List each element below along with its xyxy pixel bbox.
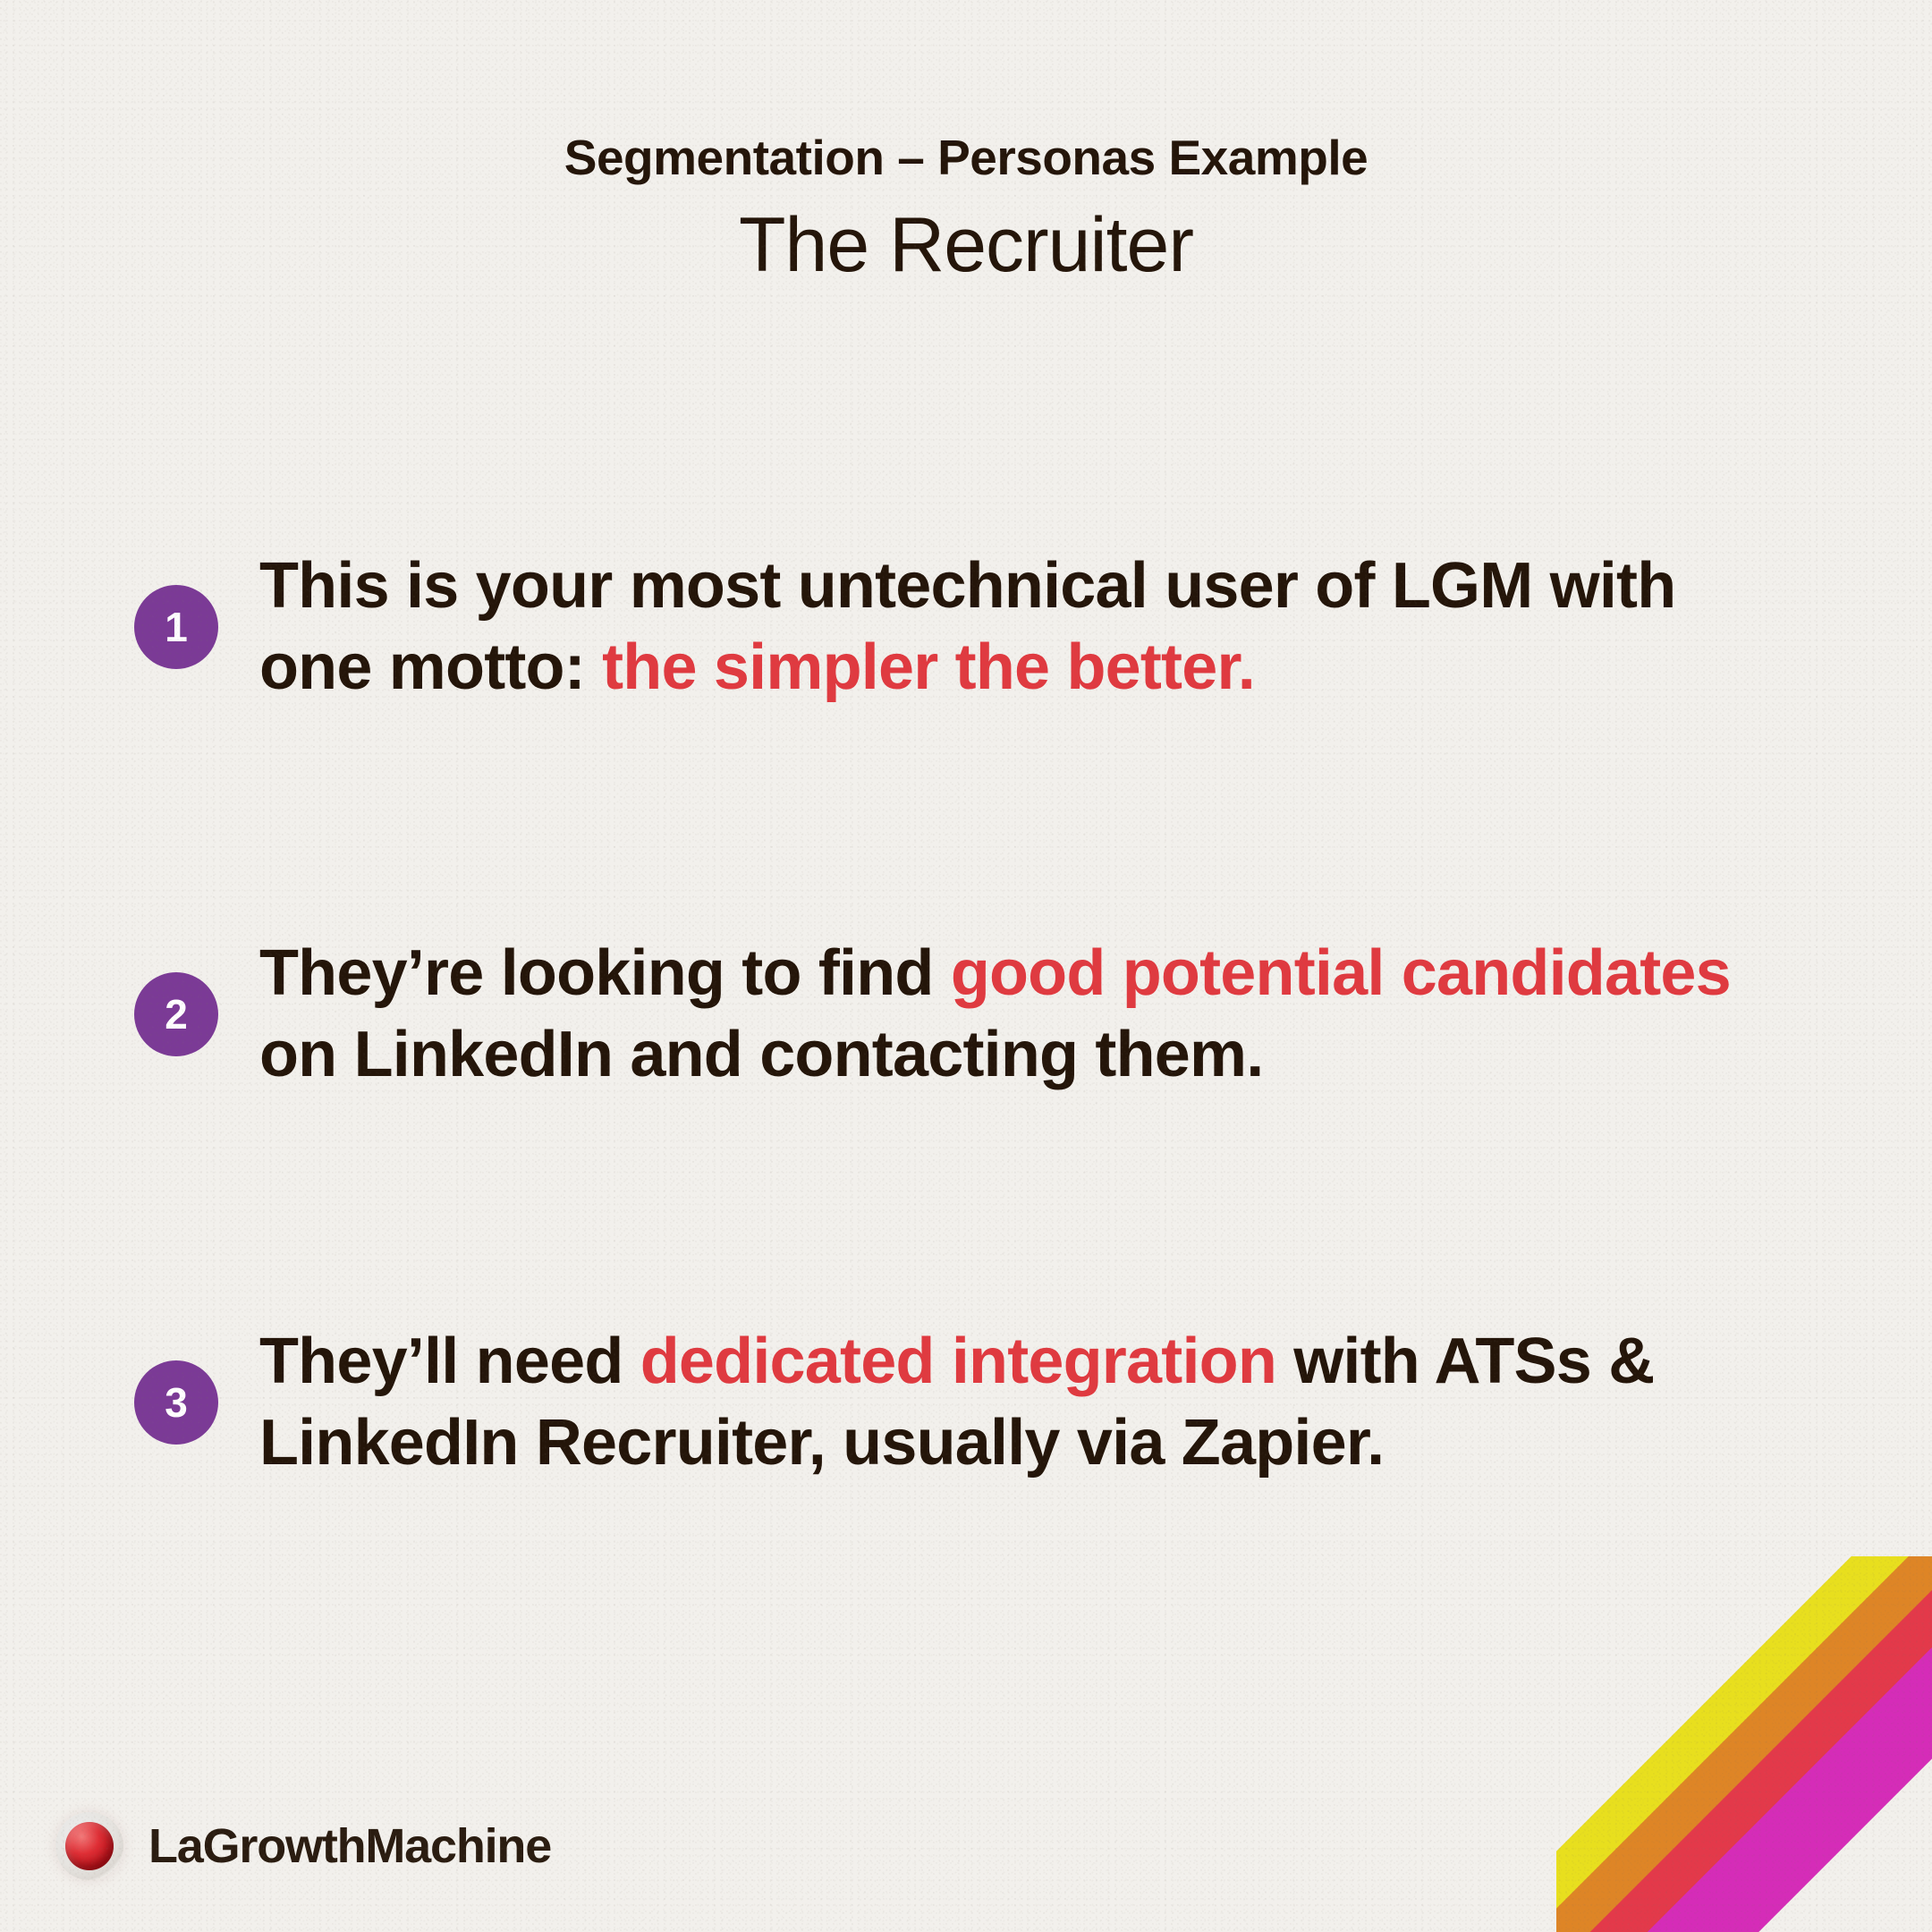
bullet-badge-1: 1	[134, 585, 218, 669]
bullet-text-segment: on LinkedIn and contacting them.	[259, 1019, 1263, 1090]
bullet-text-segment: They’ll need	[259, 1326, 640, 1397]
bullet-text-1: This is your most untechnical user of LG…	[259, 546, 1744, 708]
corner-stripes-decoration	[1556, 1556, 1932, 1932]
list-item: 2 They’re looking to find good potential…	[134, 933, 1744, 1095]
bullet-highlight-segment: good potential candidates	[951, 937, 1731, 1009]
slide-canvas: Segmentation – Personas Example The Recr…	[0, 0, 1932, 1932]
list-item: 3 They’ll need dedicated integration wit…	[134, 1321, 1744, 1483]
red-sphere-icon	[55, 1812, 123, 1880]
bullet-badge-2: 2	[134, 972, 218, 1056]
bullet-highlight-segment: the simpler the better.	[602, 631, 1255, 703]
list-item: 1 This is your most untechnical user of …	[134, 546, 1744, 708]
bullet-badge-3: 3	[134, 1360, 218, 1445]
bullet-text-segment: They’re looking to find	[259, 937, 951, 1009]
red-sphere-inner	[65, 1822, 114, 1870]
page-title: The Recruiter	[0, 204, 1932, 287]
bullet-list: 1 This is your most untechnical user of …	[134, 546, 1744, 1483]
bullet-text-3: They’ll need dedicated integration with …	[259, 1321, 1744, 1483]
brand-wordmark: LaGrowthMachine	[148, 1822, 551, 1870]
bullet-text-2: They’re looking to find good potential c…	[259, 933, 1744, 1095]
slide-eyebrow: Segmentation – Personas Example	[0, 132, 1932, 184]
brand-logo: LaGrowthMachine	[55, 1812, 551, 1880]
bullet-highlight-segment: dedicated integration	[640, 1326, 1276, 1397]
